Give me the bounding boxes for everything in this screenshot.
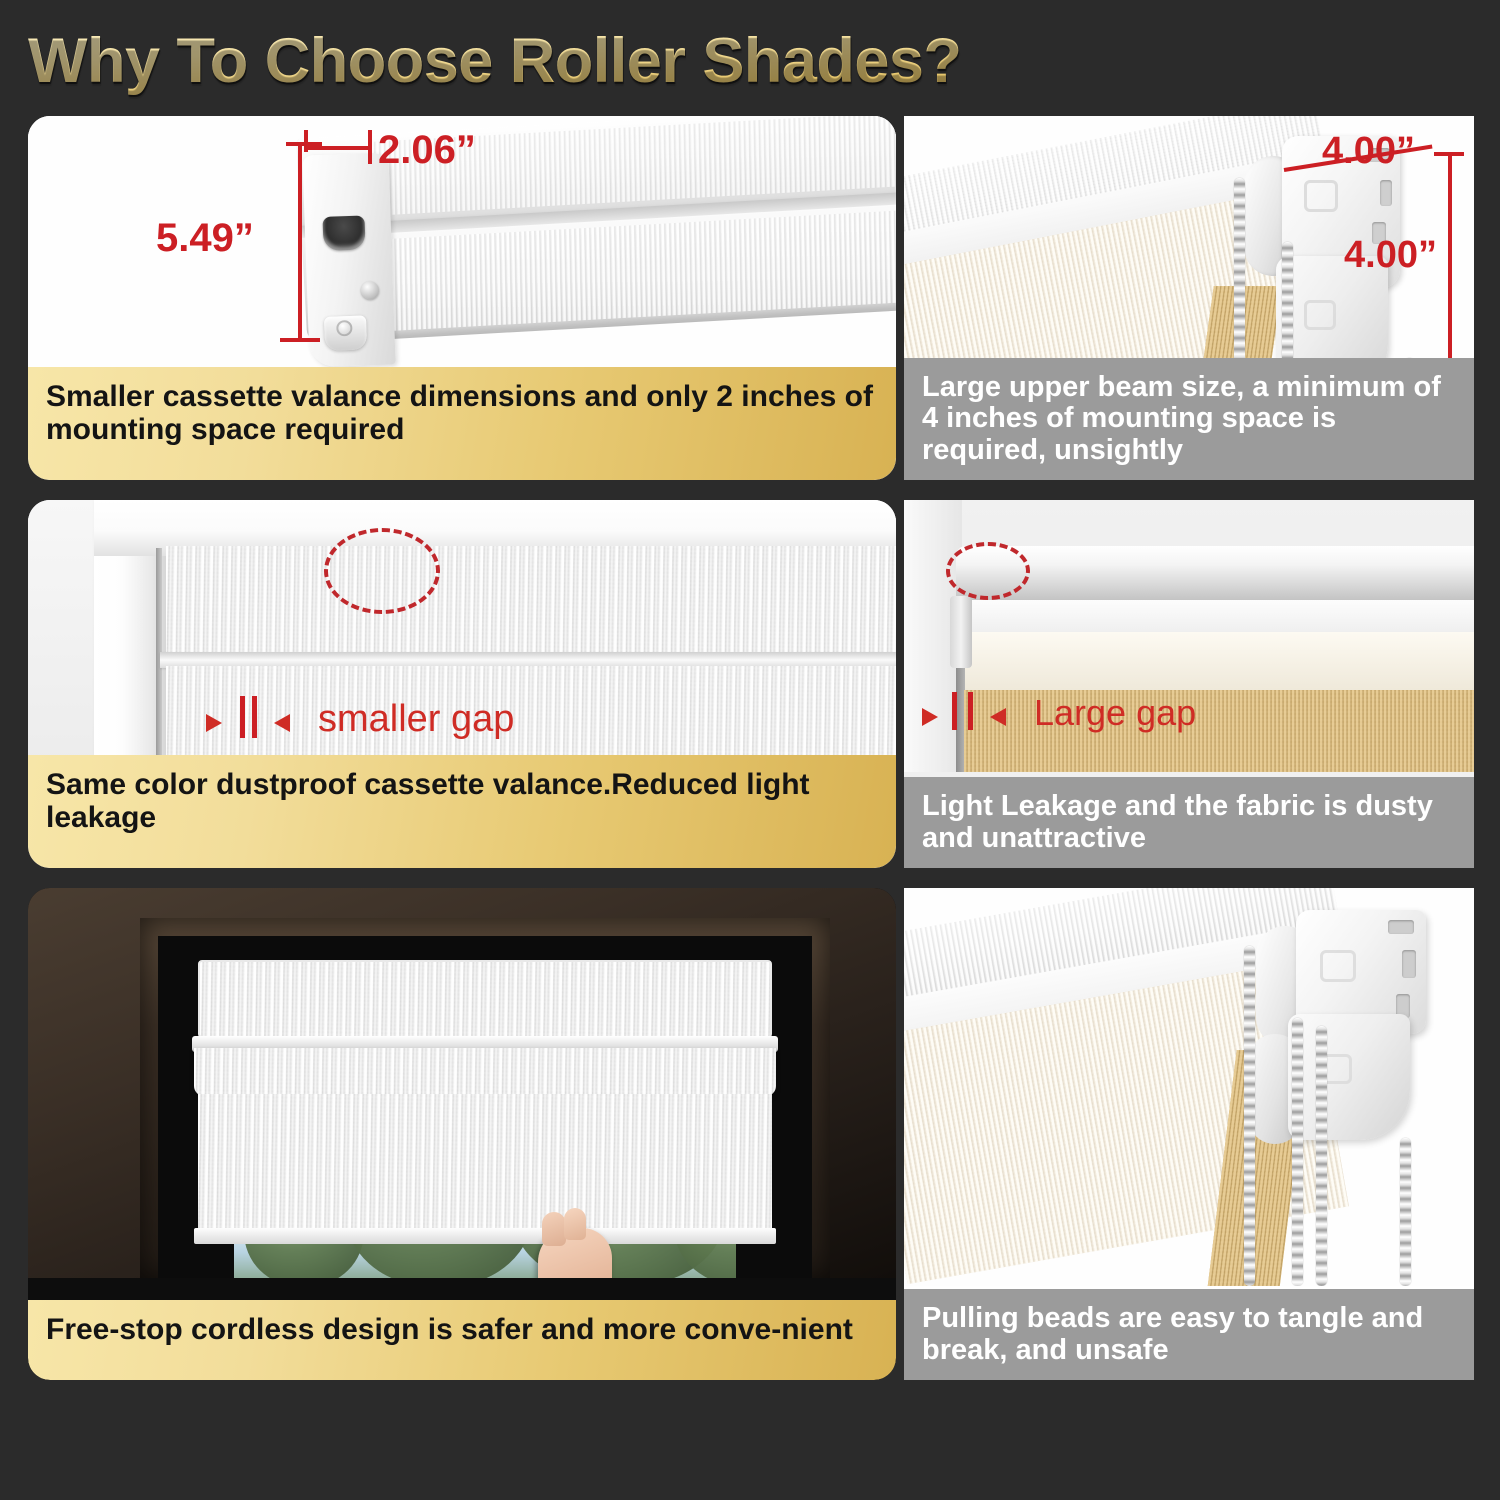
panel-smaller-cassette: 2.06” 5.49” Smaller cassette valance dim… — [28, 116, 896, 480]
gap-marker-bar — [252, 696, 257, 738]
gap-arrow-right — [990, 708, 1006, 726]
panel-light-leakage: Large gap Light Leakage and the fabric i… — [904, 500, 1474, 868]
width-dim-label: 2.06” — [378, 128, 476, 173]
beam-height-dim-line — [1448, 152, 1452, 364]
shade-bottom-rail — [194, 1228, 776, 1244]
panel-1-photo: 2.06” 5.49” — [28, 116, 896, 384]
infographic-root: Why To Choose Roller Shades? 2.06” — [0, 0, 1500, 1500]
panel-2-caption: Large upper beam size, a minimum of 4 in… — [904, 358, 1474, 480]
panel-3-photo: smaller gap — [28, 500, 896, 770]
panel-6-caption: Pulling beads are easy to tangle and bre… — [904, 1289, 1474, 1380]
panel-4-caption: Light Leakage and the fabric is dusty an… — [904, 777, 1474, 868]
cassette-valance — [198, 960, 772, 1038]
bead-chain — [1244, 946, 1255, 1286]
end-cap-screw — [361, 281, 380, 300]
end-cap-slot — [322, 215, 365, 250]
bead-chain — [1400, 1138, 1411, 1286]
highlight-dashed-circle — [324, 528, 440, 614]
gap-marker-bar — [240, 696, 245, 738]
cassette-end-cap — [302, 153, 395, 368]
beam-width-dim-label: 4.00” — [1322, 130, 1415, 173]
height-dim-tick-bottom — [280, 338, 320, 342]
bead-chain — [1316, 1026, 1327, 1286]
panel-dustproof-cassette: smaller gap Same color dustproof cassett… — [28, 500, 896, 868]
gap-arrow-left — [206, 714, 222, 732]
cassette-valance-face — [166, 546, 896, 658]
mounting-bracket-lower — [1288, 1014, 1410, 1140]
width-dim-tick-left — [304, 130, 308, 152]
panel-cordless-design: Free-stop cordless design is safer and m… — [28, 888, 896, 1380]
bracket-notch — [1380, 180, 1392, 206]
panel-6-photo — [904, 888, 1474, 1286]
panel-large-upper-beam: 4.00” 4.00” Large upper beam size, a min… — [904, 116, 1474, 480]
panel-pulling-beads: Pulling beads are easy to tangle and bre… — [904, 888, 1474, 1380]
height-dim-tick-top — [286, 142, 322, 146]
height-dim-line — [298, 142, 302, 340]
highlight-dashed-circle — [946, 542, 1030, 600]
panel-5-photo — [28, 888, 896, 1278]
bracket-notch — [1388, 920, 1414, 934]
panel-2-photo: 4.00” 4.00” — [904, 116, 1474, 386]
page-title: Why To Choose Roller Shades? — [28, 22, 1128, 100]
gap-arrow-right — [274, 714, 290, 732]
panel-3-caption: Same color dustproof cassette valance.Re… — [28, 755, 896, 868]
cream-fabric-band — [962, 632, 1474, 690]
beam-height-tick-top — [1434, 152, 1464, 156]
rolled-fabric — [194, 1048, 776, 1096]
bracket-emblem — [1304, 180, 1338, 212]
beam-height-dim-label: 4.00” — [1344, 234, 1437, 277]
gap-arrow-left — [922, 708, 938, 726]
window-recess — [158, 936, 812, 1278]
height-dim-label: 5.49” — [156, 216, 254, 261]
gap-marker-bar — [968, 692, 973, 730]
bracket-emblem — [1320, 950, 1356, 982]
mounting-hardware — [950, 596, 972, 668]
gap-marker-bar — [952, 692, 957, 730]
shade-fabric-panel — [198, 1094, 772, 1242]
smaller-gap-label: smaller gap — [318, 698, 514, 741]
width-dim-line — [306, 146, 372, 150]
panel-5-caption: Free-stop cordless design is safer and m… — [28, 1300, 896, 1380]
bead-chain — [1292, 1018, 1303, 1286]
width-dim-tick-right — [368, 130, 372, 164]
panel-4-photo: Large gap — [904, 500, 1474, 772]
hand-pulling-shade — [538, 1228, 612, 1278]
bead-chain — [1234, 178, 1245, 386]
window-frame — [140, 918, 830, 1278]
panel-1-caption: Smaller cassette valance dimensions and … — [28, 367, 896, 480]
bracket-emblem — [1304, 300, 1336, 330]
large-gap-label: Large gap — [1034, 692, 1196, 734]
bracket-notch — [1402, 950, 1416, 978]
end-cap-cylinder — [324, 315, 367, 350]
upper-beam-top — [956, 546, 1474, 608]
